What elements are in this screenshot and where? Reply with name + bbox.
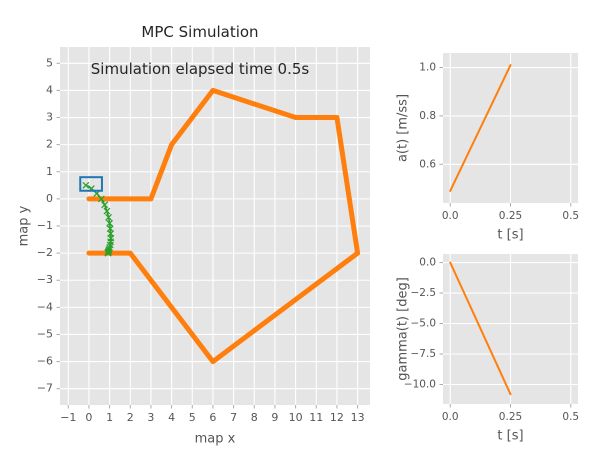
accel-plot-ylabel: a(t) [m/ss] bbox=[396, 94, 411, 162]
map-plot-xticklabel: 4 bbox=[168, 411, 175, 424]
map-plot-xticklabel: 11 bbox=[309, 411, 323, 424]
map-plot-xticklabel: 2 bbox=[127, 411, 134, 424]
gamma-plot-yticklabel: 0.0 bbox=[419, 257, 436, 269]
map-plot-xticklabel: 1 bbox=[106, 411, 113, 424]
map-plot-yticklabel: 2 bbox=[46, 138, 53, 151]
map-plot-xticklabel: 7 bbox=[230, 411, 237, 424]
accel-plot-yticklabel: 1.0 bbox=[419, 62, 436, 74]
map-plot-yticklabel: 0 bbox=[46, 192, 53, 205]
map-plot-yticklabel: −7 bbox=[37, 382, 53, 395]
map-plot-yticklabel: −3 bbox=[37, 273, 53, 286]
map-plot-xlabel: map x bbox=[195, 432, 236, 447]
map-plot: −1012345678910111213543210−1−2−3−4−5−6−7… bbox=[17, 47, 371, 447]
accel-plot-yticklabel: 0.6 bbox=[419, 158, 436, 170]
map-plot-xticklabel: 10 bbox=[289, 411, 303, 424]
gamma-plot-yticklabel: −2.5 bbox=[411, 287, 437, 299]
map-plot-xticklabel: 6 bbox=[209, 411, 216, 424]
gamma-plot-xlabel: t [s] bbox=[497, 429, 523, 444]
accel-plot-xticklabel: 0.25 bbox=[499, 210, 522, 222]
mpc-simulation-figure: MPC Simulation Simulation elapsed time 0… bbox=[0, 0, 600, 451]
map-plot-yticklabel: 1 bbox=[46, 165, 53, 178]
figure-title-line1: MPC Simulation bbox=[141, 23, 258, 41]
map-plot-yticklabel: −2 bbox=[37, 246, 53, 259]
gamma-plot-yticklabel: −5.0 bbox=[411, 318, 437, 330]
map-plot-yticklabel: −6 bbox=[37, 355, 53, 368]
map-plot-xticklabel: 13 bbox=[351, 411, 365, 424]
map-plot-xticklabel: −1 bbox=[60, 411, 76, 424]
map-plot-yticklabel: −4 bbox=[37, 300, 53, 313]
map-plot-xticklabel: 12 bbox=[330, 411, 344, 424]
map-plot-xticklabel: 8 bbox=[251, 411, 258, 424]
map-plot-yticklabel: 4 bbox=[46, 83, 53, 96]
map-plot-xticklabel: 9 bbox=[271, 411, 278, 424]
map-plot-yticklabel: 3 bbox=[46, 111, 53, 124]
figure-title: MPC Simulation Simulation elapsed time 0… bbox=[0, 4, 400, 79]
gamma-plot-xticklabel: 0.0 bbox=[442, 411, 459, 423]
accel-plot-xlabel: t [s] bbox=[497, 228, 523, 243]
accel-plot-xticklabel: 0.5 bbox=[562, 210, 579, 222]
accel-plot-yticklabel: 0.8 bbox=[419, 110, 436, 122]
map-plot-ylabel: map y bbox=[17, 205, 32, 246]
gamma-plot-ylabel: gamma(t) [deg] bbox=[396, 277, 411, 381]
accel-plot: 0.00.250.50.60.81.0t [s]a(t) [m/ss] bbox=[396, 53, 580, 243]
figure-title-line2: Simulation elapsed time 0.5s bbox=[91, 60, 309, 78]
map-plot-xticklabel: 5 bbox=[189, 411, 196, 424]
gamma-plot-xticklabel: 0.5 bbox=[562, 411, 579, 423]
map-plot-xticklabel: 0 bbox=[85, 411, 92, 424]
gamma-plot: 0.00.250.50.0−2.5−5.0−7.5−10.0t [s]gamma… bbox=[396, 254, 580, 444]
map-plot-xticklabel: 3 bbox=[147, 411, 154, 424]
accel-plot-xticklabel: 0.0 bbox=[442, 210, 459, 222]
gamma-plot-yticklabel: −7.5 bbox=[411, 348, 437, 360]
map-plot-yticklabel: −1 bbox=[37, 219, 53, 232]
gamma-plot-xticklabel: 0.25 bbox=[499, 411, 522, 423]
map-plot-yticklabel: −5 bbox=[37, 327, 53, 340]
